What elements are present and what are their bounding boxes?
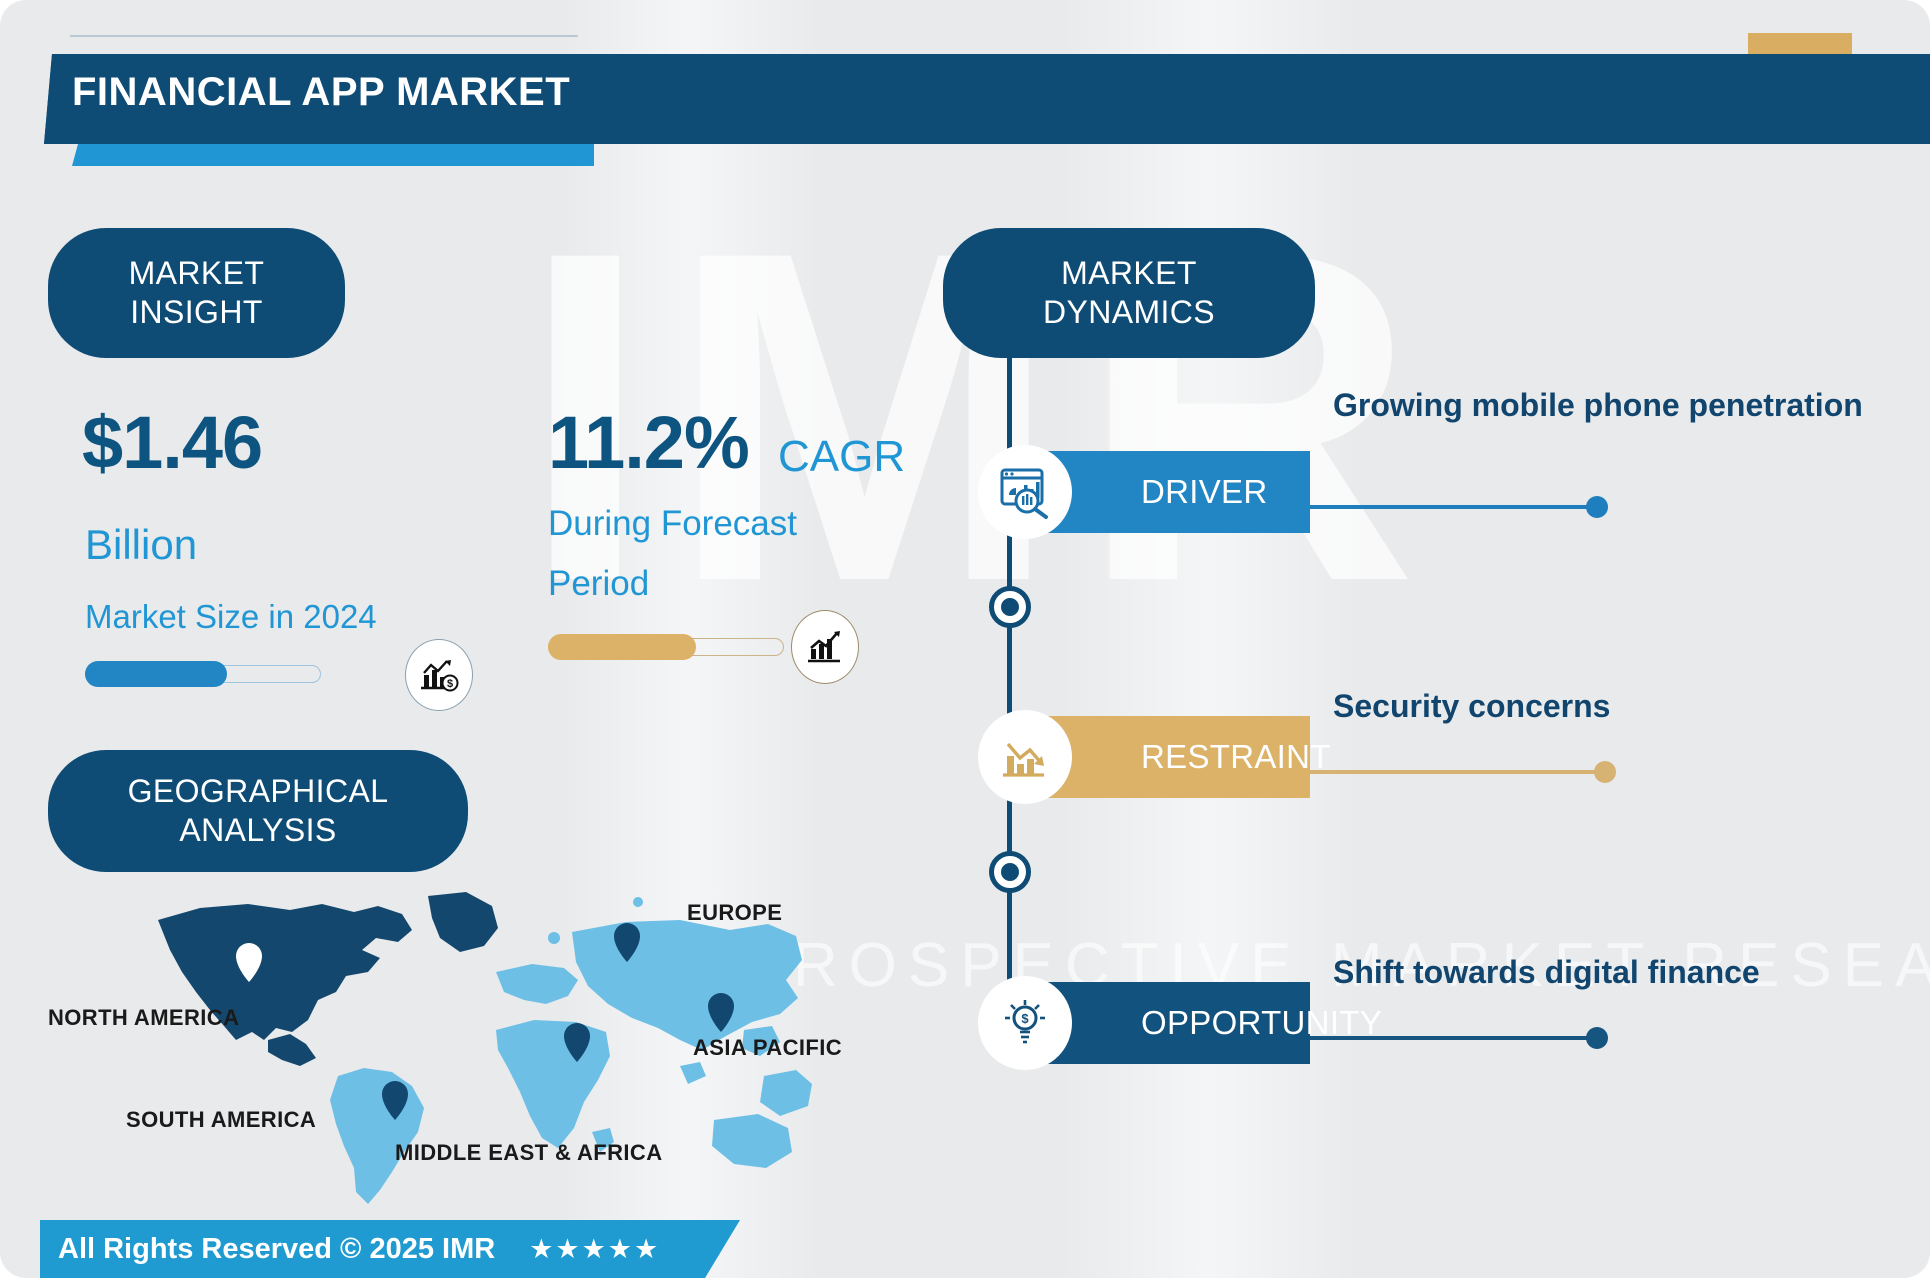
page-title: FINANCIAL APP MARKET xyxy=(72,70,570,115)
market-dynamics-pill-label: MARKETDYNAMICS xyxy=(1043,254,1215,332)
section-heading-market-dynamics: MARKETDYNAMICS xyxy=(943,228,1315,358)
cagr-value: 11.2% xyxy=(548,400,749,485)
opportunity-label-bar: OPPORTUNITY xyxy=(1038,982,1310,1064)
growth-arrow-chart-icon xyxy=(791,610,859,684)
header-gold-accent xyxy=(1748,33,1852,55)
map-label-middle-east-africa: MIDDLE EAST & AFRICA xyxy=(395,1140,663,1166)
infographic-canvas: IMR INTROSPECTIVE MARKET RESEARCH FINANC… xyxy=(0,0,1930,1278)
opportunity-connector-endcap xyxy=(1586,1027,1608,1049)
driver-label: DRIVER xyxy=(1141,473,1268,511)
svg-text:$: $ xyxy=(1021,1011,1029,1026)
driver-connector-line xyxy=(1310,505,1598,509)
geographical-analysis-pill-label: GEOGRAPHICALANALYSIS xyxy=(128,772,389,850)
header-blue-underbar xyxy=(72,144,594,166)
market-insight-pill-label: MARKETINSIGHT xyxy=(129,254,265,332)
dynamics-node-dot xyxy=(989,851,1031,893)
header-thin-rule xyxy=(70,35,578,37)
market-size-unit: Billion xyxy=(85,521,197,569)
cagr-progress xyxy=(548,634,828,660)
driver-connector-endcap xyxy=(1586,496,1608,518)
dashboard-magnifier-icon xyxy=(978,445,1072,539)
cagr-caption-line2: Period xyxy=(548,564,649,604)
copyright-text: All Rights Reserved © 2025 IMR xyxy=(58,1233,495,1266)
cagr-caption-line1: During Forecast xyxy=(548,504,797,544)
restraint-label-bar: RESTRAINT xyxy=(1038,716,1310,798)
map-label-asia-pacific: ASIA PACIFIC xyxy=(693,1035,842,1061)
dynamics-node-dot xyxy=(989,586,1031,628)
market-size-progress: $ xyxy=(85,661,365,687)
restraint-description: Security concerns xyxy=(1333,684,1893,728)
driver-label-bar: DRIVER xyxy=(1038,451,1310,533)
opportunity-description: Shift towards digital finance xyxy=(1333,950,1893,994)
driver-description: Growing mobile phone penetration xyxy=(1333,383,1893,427)
lightbulb-dollar-icon: $ xyxy=(978,976,1072,1070)
cagr-progress-fill xyxy=(548,634,696,660)
bar-chart-dollar-icon: $ xyxy=(405,639,473,711)
footer-bar: All Rights Reserved © 2025 IMR ★★★★★ xyxy=(40,1220,740,1278)
map-label-europe: EUROPE xyxy=(687,900,782,926)
declining-bar-chart-icon xyxy=(978,710,1072,804)
restraint-label: RESTRAINT xyxy=(1141,738,1331,776)
opportunity-connector-line xyxy=(1310,1036,1598,1040)
map-label-south-america: SOUTH AMERICA xyxy=(126,1107,316,1133)
rating-stars: ★★★★★ xyxy=(529,1234,660,1265)
market-size-value: $1.46 xyxy=(82,400,262,485)
market-size-progress-fill xyxy=(85,661,227,687)
section-heading-market-insight: MARKETINSIGHT xyxy=(48,228,345,358)
background-band-right xyxy=(1060,0,1360,1278)
restraint-connector-line xyxy=(1310,770,1606,774)
section-heading-geographical-analysis: GEOGRAPHICALANALYSIS xyxy=(48,750,468,872)
map-label-north-america: NORTH AMERICA xyxy=(48,1005,239,1031)
restraint-connector-endcap xyxy=(1594,761,1616,783)
market-size-caption: Market Size in 2024 xyxy=(85,598,377,636)
svg-text:$: $ xyxy=(447,678,453,690)
cagr-suffix-label: CAGR xyxy=(778,432,905,482)
